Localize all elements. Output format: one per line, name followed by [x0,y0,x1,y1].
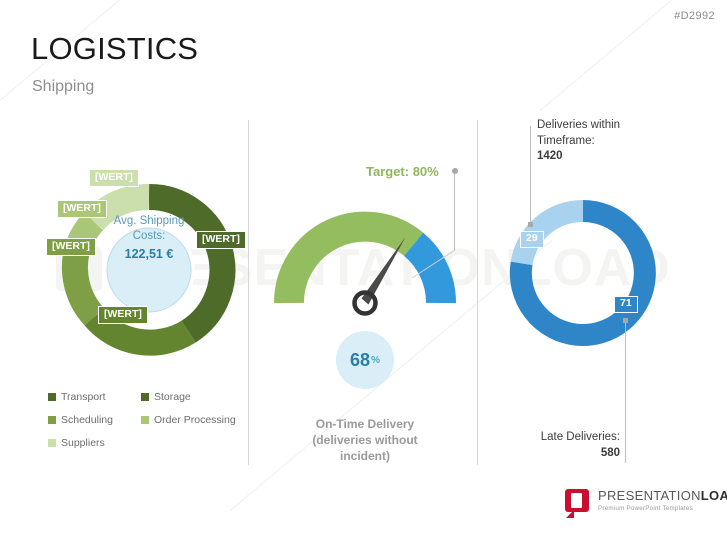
gauge-needle [355,237,406,314]
delivery-donut-chip-on-time: 71 [614,296,638,313]
on-time-delivery-kpi: 68 % [336,331,394,389]
legend-item-suppliers[interactable]: Suppliers [48,437,141,449]
logo-name-light: PRESENTATION [598,488,701,503]
legend-row: Scheduling Order Processing [48,414,253,426]
logo-tagline: Premium PowerPoint Templates [598,505,727,512]
legend-swatch-icon [48,439,56,447]
legend-item-scheduling[interactable]: Scheduling [48,414,141,426]
callout-line-1: Deliveries within [537,118,620,134]
on-time-delivery-caption: On-Time Delivery (deliveries without inc… [285,416,445,465]
cost-donut-legend: Transport Storage Scheduling Order Proce… [48,391,253,460]
bottom-callout-leader-dot-icon [623,318,628,323]
cost-donut-label-suppliers: [WERT] [89,169,139,187]
caption-line-1: On-Time Delivery [285,416,445,432]
cost-donut-label-transport: [WERT] [196,231,246,249]
presentationload-logo: PRESENTATIONLOAD® Premium PowerPoint Tem… [565,489,727,512]
document-id: #D2992 [674,10,715,22]
legend-label: Order Processing [154,414,236,426]
legend-row: Suppliers [48,437,253,449]
callout-value: 580 [601,447,620,459]
legend-label: Transport [61,391,106,403]
cost-donut-label-order: [WERT] [57,200,107,218]
legend-label: Scheduling [61,414,113,426]
top-callout-leader-dot-icon [528,222,533,227]
page-title: LOGISTICS [31,31,198,67]
cost-donut-label-scheduling: [WERT] [46,238,96,256]
kpi-value: 68 [350,351,370,369]
cost-donut-center-value: 122,51 € [106,246,192,263]
gauge-target-dot-icon [452,168,458,174]
top-callout-leader-line [530,126,531,223]
delivery-donut-chip-late: 29 [520,231,544,248]
cost-donut-label-storage: [WERT] [98,306,148,324]
deliveries-within-timeframe-callout: Deliveries within Timeframe: 1420 [537,118,620,165]
slide: PRESENTATIONLOAD #D2992 LOGISTICS Shippi… [0,0,727,545]
page-subtitle: Shipping [32,78,94,96]
legend-item-storage[interactable]: Storage [141,391,191,403]
legend-label: Storage [154,391,191,403]
logo-text: PRESENTATIONLOAD® Premium PowerPoint Tem… [598,489,727,512]
legend-row: Transport Storage [48,391,253,403]
legend-item-transport[interactable]: Transport [48,391,141,403]
legend-item-order-processing[interactable]: Order Processing [141,414,236,426]
callout-line-2: Timeframe: [537,134,620,150]
delivery-donut-chart [503,193,663,353]
cost-donut-center: Avg. Shipping Costs: 122,51 € [106,214,192,263]
bottom-callout-leader-line [625,321,626,463]
caption-line-3: incident) [285,448,445,464]
logo-name: PRESENTATIONLOAD® [598,489,727,502]
decorative-diagonal-1 [0,0,262,151]
legend-swatch-icon [48,416,56,424]
cost-donut-center-label: Avg. Shipping Costs: [114,215,185,242]
callout-value: 1420 [537,150,563,162]
gauge-target-pointer [410,245,460,285]
gauge-target-leader-line [454,174,455,250]
speech-bubble-icon [565,489,589,512]
gauge-target-label: Target: 80% [366,164,439,179]
legend-label: Suppliers [61,437,105,449]
legend-swatch-icon [141,416,149,424]
late-deliveries-callout: Late Deliveries: 580 [481,430,620,461]
caption-line-2: (deliveries without [285,432,445,448]
callout-line-1: Late Deliveries: [481,430,620,446]
kpi-unit: % [371,355,380,366]
legend-swatch-icon [141,393,149,401]
legend-swatch-icon [48,393,56,401]
column-divider-right [477,120,478,465]
logo-name-bold: LOAD [701,488,727,503]
